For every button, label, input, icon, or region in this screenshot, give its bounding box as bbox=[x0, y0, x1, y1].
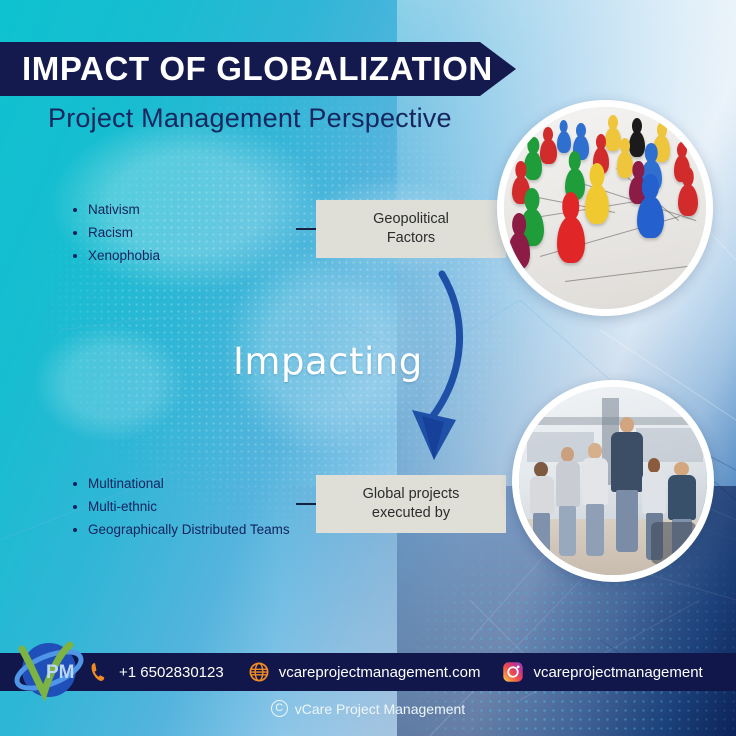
list-item: Xenophobia bbox=[88, 244, 160, 267]
phone-icon bbox=[88, 661, 110, 683]
footer-instagram[interactable]: vcareprojectmanagement bbox=[502, 661, 702, 683]
website-url: vcareprojectmanagement.com bbox=[279, 664, 481, 681]
global-team-traits-list: Multinational Multi-ethnic Geographicall… bbox=[70, 472, 290, 541]
copyright-symbol-icon: C bbox=[271, 700, 288, 717]
callout-line-2: executed by bbox=[363, 504, 460, 523]
copyright-text: vCare Project Management bbox=[295, 701, 465, 717]
team-meeting-photo bbox=[512, 380, 714, 582]
globalization-factors-list: Nativism Racism Xenophobia bbox=[70, 198, 160, 267]
vpm-globe-logo: PM bbox=[8, 637, 90, 703]
page-title: IMPACT OF GLOBALIZATION bbox=[0, 50, 493, 88]
title-banner: IMPACT OF GLOBALIZATION bbox=[0, 42, 516, 96]
list-item: Racism bbox=[88, 221, 160, 244]
list-item: Multi-ethnic bbox=[88, 495, 290, 518]
curved-down-arrow-icon bbox=[370, 270, 480, 480]
callout-global-projects: Global projects executed by bbox=[316, 475, 506, 533]
office-scene bbox=[519, 387, 707, 575]
page-subtitle: Project Management Perspective bbox=[48, 103, 452, 134]
callout-line-2: Factors bbox=[373, 229, 449, 248]
infographic-poster: IMPACT OF GLOBALIZATION Project Manageme… bbox=[0, 0, 736, 736]
copyright-line: C vCare Project Management bbox=[0, 700, 736, 717]
footer-contact-bar: +1 6502830123 vcareprojectmanagement.com bbox=[0, 653, 736, 691]
callout-line-1: Global projects bbox=[363, 485, 460, 504]
footer-website[interactable]: vcareprojectmanagement.com bbox=[248, 661, 481, 683]
instagram-icon bbox=[502, 661, 524, 683]
globe-icon bbox=[248, 661, 270, 683]
logo-text: PM bbox=[46, 662, 75, 683]
pawns-scene bbox=[504, 107, 706, 309]
callout-line-1: Geopolitical bbox=[373, 210, 449, 229]
callout-geopolitical-factors: Geopolitical Factors bbox=[316, 200, 506, 258]
footer-phone[interactable]: +1 6502830123 bbox=[88, 661, 224, 683]
list-item: Nativism bbox=[88, 198, 160, 221]
list-item: Multinational bbox=[88, 472, 290, 495]
phone-number: +1 6502830123 bbox=[119, 664, 224, 681]
instagram-handle: vcareprojectmanagement bbox=[533, 664, 702, 681]
list-item: Geographically Distributed Teams bbox=[88, 518, 290, 541]
pawns-network-photo bbox=[497, 100, 713, 316]
